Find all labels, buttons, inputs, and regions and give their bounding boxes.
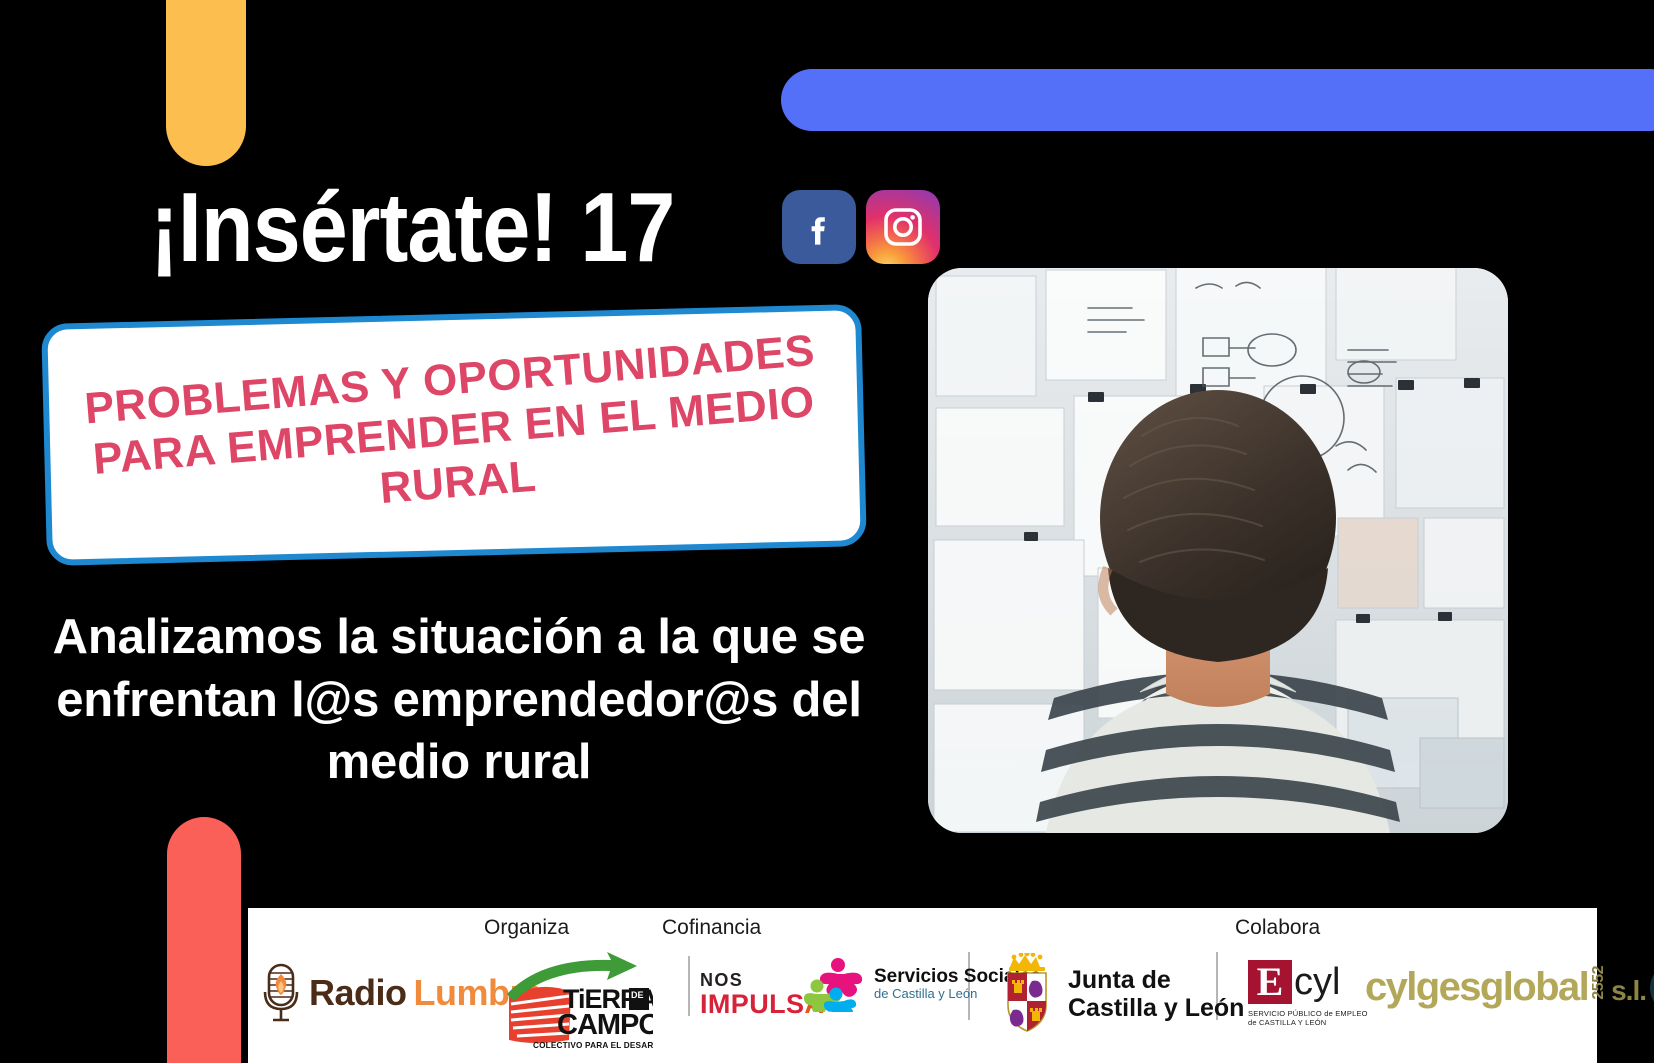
decorative-coral-pill — [167, 817, 241, 1063]
cylges-main: cylgesglobal — [1365, 967, 1588, 1007]
svg-text:DE: DE — [631, 990, 644, 1000]
air-monogram-icon — [1647, 956, 1654, 1016]
coat-of-arms-icon — [996, 953, 1058, 1035]
ecyl-subtitle: SERVICIO PÚBLICO de EMPLEO de CASTILLA Y… — [1248, 1009, 1368, 1027]
sponsor-footer: Organiza Cofinancia Colabora — [248, 908, 1597, 1063]
poster-canvas: ¡Insértate! 17 PROBLEMAS Y OPORTUNIDADES… — [0, 0, 1654, 1063]
logo-junta-castilla-leon: Junta de Castilla y León — [996, 953, 1244, 1035]
body-copy: Analizamos la situación a la que se enfr… — [30, 606, 888, 794]
title-row: ¡Insértate! 17 — [150, 178, 940, 276]
microphone-flame-icon — [260, 962, 302, 1024]
ecyl-row: E cyl — [1248, 960, 1368, 1004]
ecyl-sub2: de CASTILLA Y LEÓN — [1248, 1018, 1368, 1027]
cylges-suffix: s.l. — [1611, 975, 1646, 1007]
page-title: ¡Insértate! 17 — [150, 178, 674, 276]
radiolumbre-part1: Radio — [309, 972, 407, 1014]
instagram-icon[interactable] — [866, 190, 940, 264]
cylges-number: 2552 — [1590, 966, 1608, 1000]
footer-separator — [688, 956, 690, 1016]
junta-line1: Junta de — [1068, 966, 1244, 994]
logo-asistencia-integral-rural: asistencia integral rural — [1647, 956, 1654, 1016]
ecyl-sub1: SERVICIO PÚBLICO de EMPLEO — [1248, 1009, 1368, 1018]
ecyl-word: cyl — [1294, 963, 1340, 1001]
nos-impulsa-word: IMPULS — [700, 989, 804, 1019]
svg-text:COLECTIVO PARA EL DESARROLLO R: COLECTIVO PARA EL DESARROLLO RURAL — [533, 1041, 653, 1050]
people-icon — [804, 956, 866, 1012]
headline-text: PROBLEMAS Y OPORTUNIDADES PARA EMPRENDER… — [45, 322, 863, 541]
ecyl-mark: E — [1248, 960, 1292, 1004]
social-icons — [782, 190, 940, 264]
facebook-icon[interactable] — [782, 190, 856, 264]
logo-tierra-de-campos: TiERRA DE CAMPOS COLECTIVO PARA EL DESAR… — [501, 950, 653, 1050]
junta-text: Junta de Castilla y León — [1068, 966, 1244, 1022]
svg-text:CAMPOS: CAMPOS — [557, 1009, 653, 1041]
decorative-blue-pill — [781, 69, 1654, 131]
logo-ecyl: E cyl SERVICIO PÚBLICO de EMPLEO de CAST… — [1248, 960, 1368, 1027]
decorative-yellow-pill — [166, 0, 246, 166]
hero-photo — [928, 268, 1508, 833]
headline-card: PROBLEMAS Y OPORTUNIDADES PARA EMPRENDER… — [41, 304, 867, 566]
footer-label-colabora: Colabora — [1235, 916, 1320, 940]
footer-label-cofinancia: Cofinancia — [662, 916, 761, 940]
junta-line2: Castilla y León — [1068, 994, 1244, 1022]
logo-cylgesglobal: cylgesglobal 2552 s.l. — [1365, 966, 1646, 1007]
footer-label-organiza: Organiza — [484, 916, 569, 940]
